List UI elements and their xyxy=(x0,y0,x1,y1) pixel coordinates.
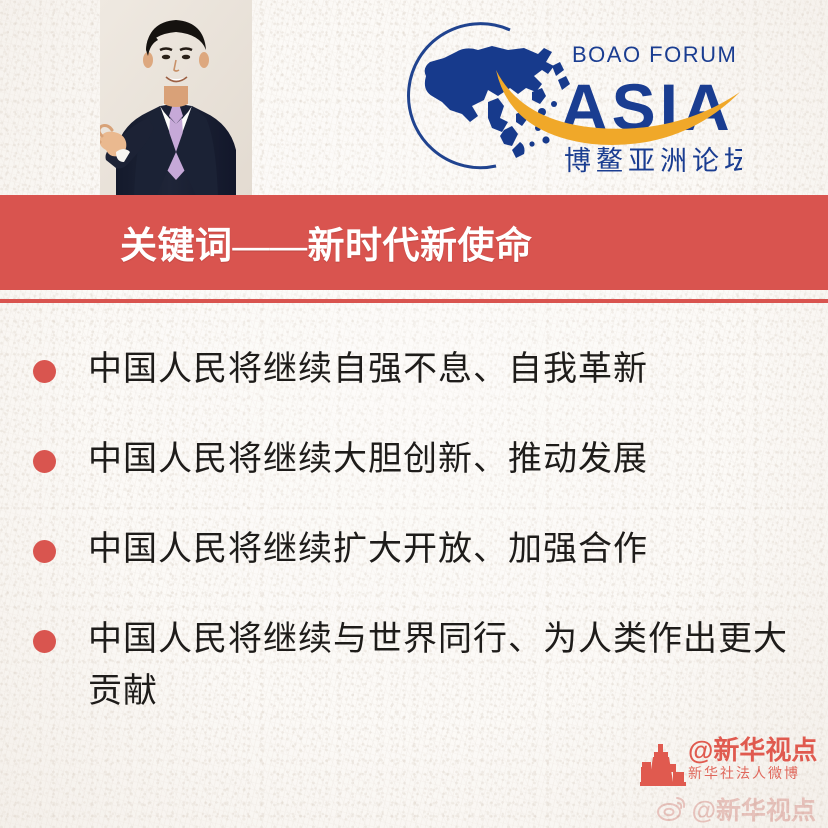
boao-forum-logo: BOAO FORUM FOR ASIA 博鳌亚洲论坛 xyxy=(392,18,742,184)
bullet-dot-icon xyxy=(33,360,56,383)
xinhua-subtitle: 新华社法人微博 xyxy=(688,764,817,782)
bullet-dot-icon xyxy=(33,450,56,473)
header: BOAO FORUM FOR ASIA 博鳌亚洲论坛 xyxy=(0,0,828,196)
logo-wordmark-zh: 博鳌亚洲论坛 xyxy=(564,146,742,176)
title-banner: 关键词——新时代新使命 xyxy=(0,195,828,290)
list-item: 中国人民将继续与世界同行、为人类作出更大贡献 xyxy=(0,614,828,718)
list-item-text: 中国人民将继续与世界同行、为人类作出更大贡献 xyxy=(88,614,788,718)
bullet-dot-icon xyxy=(33,630,56,653)
logo-tagline-en: BOAO FORUM FOR xyxy=(572,42,742,67)
xinhua-mark-icon xyxy=(640,742,686,786)
list-item-text: 中国人民将继续自强不息、自我革新 xyxy=(88,344,788,396)
xinhua-watermark: @新华视点 新华社法人微博 xyxy=(632,738,822,790)
list-item-text: 中国人民将继续大胆创新、推动发展 xyxy=(88,434,788,486)
list-item: 中国人民将继续自强不息、自我革新 xyxy=(0,344,828,430)
banner-divider-rule xyxy=(0,299,828,303)
weibo-watermark-label: @新华视点 xyxy=(692,791,816,827)
bullet-dot-icon xyxy=(33,540,56,563)
leader-portrait-photo xyxy=(100,0,252,196)
poster-canvas: BOAO FORUM FOR ASIA 博鳌亚洲论坛 关键词——新时代新使命 中… xyxy=(0,0,828,828)
weibo-watermark: @新华视点 xyxy=(656,792,816,826)
keyword-bullet-list: 中国人民将继续自强不息、自我革新 中国人民将继续大胆创新、推动发展 中国人民将继… xyxy=(0,330,828,718)
list-item-text: 中国人民将继续扩大开放、加强合作 xyxy=(88,524,788,576)
list-item: 中国人民将继续大胆创新、推动发展 xyxy=(0,434,828,520)
page-title: 关键词——新时代新使命 xyxy=(120,214,533,268)
list-item: 中国人民将继续扩大开放、加强合作 xyxy=(0,524,828,610)
xinhua-watermark-text: @新华视点 新华社法人微博 xyxy=(688,736,817,782)
xinhua-handle: @新华视点 xyxy=(688,736,817,764)
weibo-eye-icon xyxy=(656,794,686,824)
